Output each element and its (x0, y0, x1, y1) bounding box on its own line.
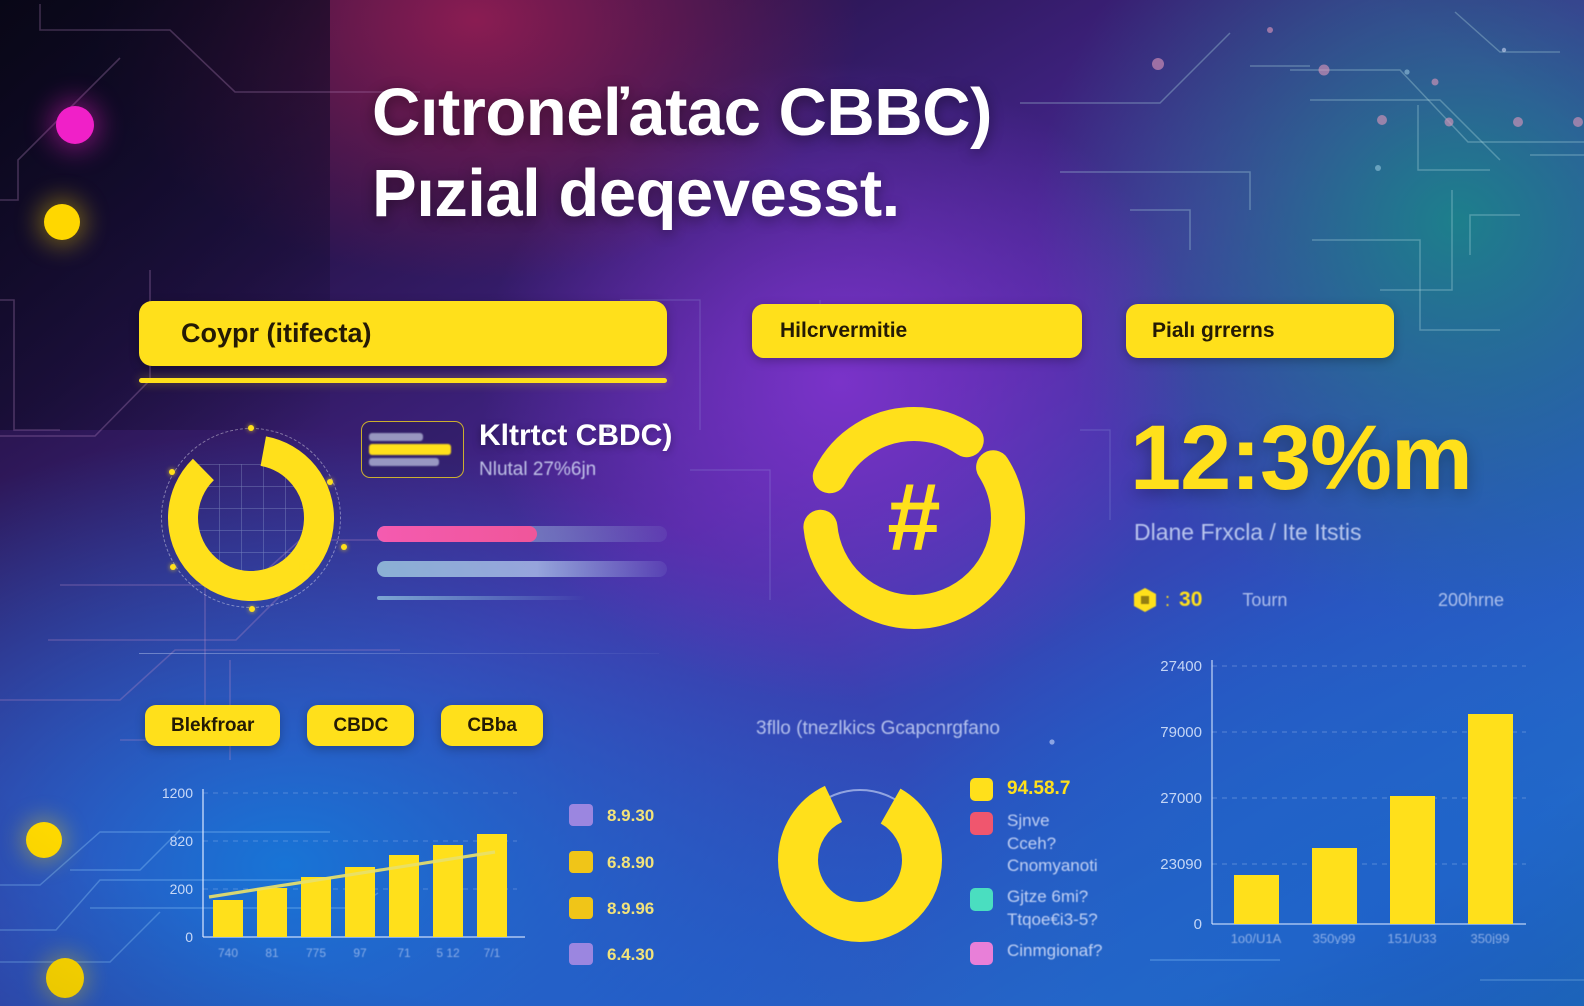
svg-text:97: 97 (353, 946, 367, 960)
legend-item[interactable]: Cinmgionaf? (970, 940, 1102, 965)
orbit-node-bottom-left (170, 564, 176, 570)
panel-left-header[interactable]: Coypr (itifecta) (139, 301, 667, 366)
svg-text:7/1: 7/1 (484, 946, 501, 960)
left-card-subtitle: Nlutal 27%6jn (479, 459, 596, 481)
mini-card-line-2 (369, 458, 439, 466)
tab-cbba-label: CBba (467, 715, 517, 737)
hash-icon: # (887, 470, 940, 566)
left-card-heading: Kltrtct CBDC) (479, 419, 672, 453)
legend-item[interactable]: Gjtze 6mi? Ttqoe€i3-5? (970, 886, 1102, 931)
svg-text:27400: 27400 (1160, 658, 1202, 675)
svg-text:350j99: 350j99 (1470, 931, 1509, 944)
progress-bar-group (377, 526, 667, 619)
orbit-node-top (248, 425, 254, 431)
svg-text:200: 200 (170, 881, 194, 897)
tab-cbdc-label: CBDC (333, 715, 388, 737)
meta-label-mid: Tourn (1242, 590, 1287, 611)
progress-bar-1[interactable] (377, 526, 667, 542)
tab-cbba[interactable]: CBba (441, 705, 543, 746)
panel-right-header-label: Pialı grrerns (1152, 319, 1275, 343)
svg-text:6.4.30: 6.4.30 (607, 945, 654, 964)
legend-swatch-teal (970, 888, 993, 911)
panel-left-header-underline (139, 378, 667, 383)
orbit-node-left (169, 469, 175, 475)
tab-blekfroar-label: Blekfroar (171, 715, 254, 737)
page-title-line-1: Cıtroneľatac CBBC) (372, 75, 992, 150)
hash-ring-gauge: # (790, 394, 1038, 642)
meta-label-right: 200hrne (1438, 590, 1504, 611)
legend-item[interactable]: 94.58.7 (970, 776, 1102, 801)
svg-text:0: 0 (1194, 916, 1202, 933)
svg-text:6.8.90: 6.8.90 (607, 853, 654, 872)
svg-text:151/U33: 151/U33 (1387, 931, 1436, 944)
legend-item[interactable]: Sjnve Cceh? Cnomyanoti (970, 810, 1102, 877)
panel-middle-header[interactable]: Hilcrvermitie (752, 304, 1082, 358)
legend-label-2: Gjtze 6mi? Ttqoe€i3-5? (1007, 886, 1098, 931)
svg-text:81: 81 (265, 946, 279, 960)
tab-cbdc[interactable]: CBDC (307, 705, 414, 746)
meta-hex-value: 30 (1179, 588, 1202, 612)
legend-label-3: Cinmgionaf? (1007, 940, 1102, 962)
panel-middle-header-label: Hilcrvermitie (780, 319, 907, 343)
panel-left-header-label: Coypr (itifecta) (181, 318, 372, 349)
legend-swatch-yellow (970, 778, 993, 801)
orbit-node-bottom (249, 606, 255, 612)
hexagon-icon (1134, 588, 1156, 612)
page-title-line-2: Pızial deqevesst. (372, 153, 1332, 234)
meta-separator: : (1165, 590, 1170, 611)
svg-text:8.9.96: 8.9.96 (607, 899, 654, 918)
svg-text:5 12: 5 12 (436, 946, 460, 960)
svg-text:0: 0 (185, 929, 193, 945)
legend-label-0: 94.58.7 (1007, 776, 1070, 801)
orbit-node-far-right (341, 544, 347, 550)
big-stat-value: 12:3%m (1130, 412, 1472, 504)
panel-right: Pialı grrerns 12:3%m Dlane Frxcla / Ite … (1126, 304, 1394, 358)
stat-meta-row: : 30 Tourn 200hrne (1134, 588, 1504, 612)
donut-caption: 3fllo (tnezlkics Gcapcnrgfano (756, 718, 1000, 740)
legend-swatch-orchid (970, 942, 993, 965)
bar-chart-left: 1200 820 200 0 740 81 775 97 71 (145, 779, 669, 969)
mini-card-line-1 (369, 433, 423, 441)
svg-text:79000: 79000 (1160, 724, 1202, 741)
svg-text:775: 775 (306, 946, 326, 960)
orbit-node-bottom-right (304, 564, 310, 570)
svg-text:1o0/U1A: 1o0/U1A (1231, 931, 1282, 944)
bar-chart-right: 27400 79000 27000 23090 0 1o0/U1A 350y99… (1126, 644, 1556, 944)
donut-chart-middle (766, 766, 954, 954)
panel-left: Coypr (itifecta) Kltrtct CBDC) Nlutal 27… (139, 301, 667, 383)
svg-text:1200: 1200 (162, 785, 193, 801)
svg-text:27000: 27000 (1160, 790, 1202, 807)
big-stat-subtitle: Dlane Frxcla / Ite Itstis (1134, 519, 1362, 546)
svg-text:740: 740 (218, 946, 238, 960)
mini-card-line-highlight (369, 444, 451, 455)
svg-text:23090: 23090 (1160, 856, 1202, 873)
mini-status-card[interactable] (361, 421, 464, 478)
panel-middle: Hilcrvermitie # 3fllo (tnezlkics Gcapcnr… (752, 304, 1082, 358)
legend-label-1: Sjnve Cceh? Cnomyanoti (1007, 810, 1102, 877)
tab-blekfroar[interactable]: Blekfroar (145, 705, 280, 746)
orbit-node-right (327, 479, 333, 485)
panel-left-divider (139, 653, 659, 654)
svg-text:350y99: 350y99 (1313, 931, 1356, 944)
bar-chart-left-legend: 8.9.30 6.8.90 8.9.96 6.4.30 (569, 804, 654, 965)
legend-swatch-pink (970, 812, 993, 835)
svg-text:820: 820 (170, 833, 194, 849)
svg-text:71: 71 (397, 946, 411, 960)
svg-text:8.9.30: 8.9.30 (607, 806, 654, 825)
filter-tab-group: Blekfroar CBDC CBba (145, 705, 543, 746)
panel-right-header[interactable]: Pialı grrerns (1126, 304, 1394, 358)
progress-bar-2[interactable] (377, 561, 667, 577)
progress-bar-3[interactable] (377, 596, 586, 600)
page-title: Cıtroneľatac CBBC) Pızial deqevesst. (372, 72, 1332, 234)
donut-legend-middle: 94.58.7 Sjnve Cceh? Cnomyanoti Gjtze 6mi… (970, 776, 1102, 974)
progress-bar-1-fill (377, 526, 537, 542)
